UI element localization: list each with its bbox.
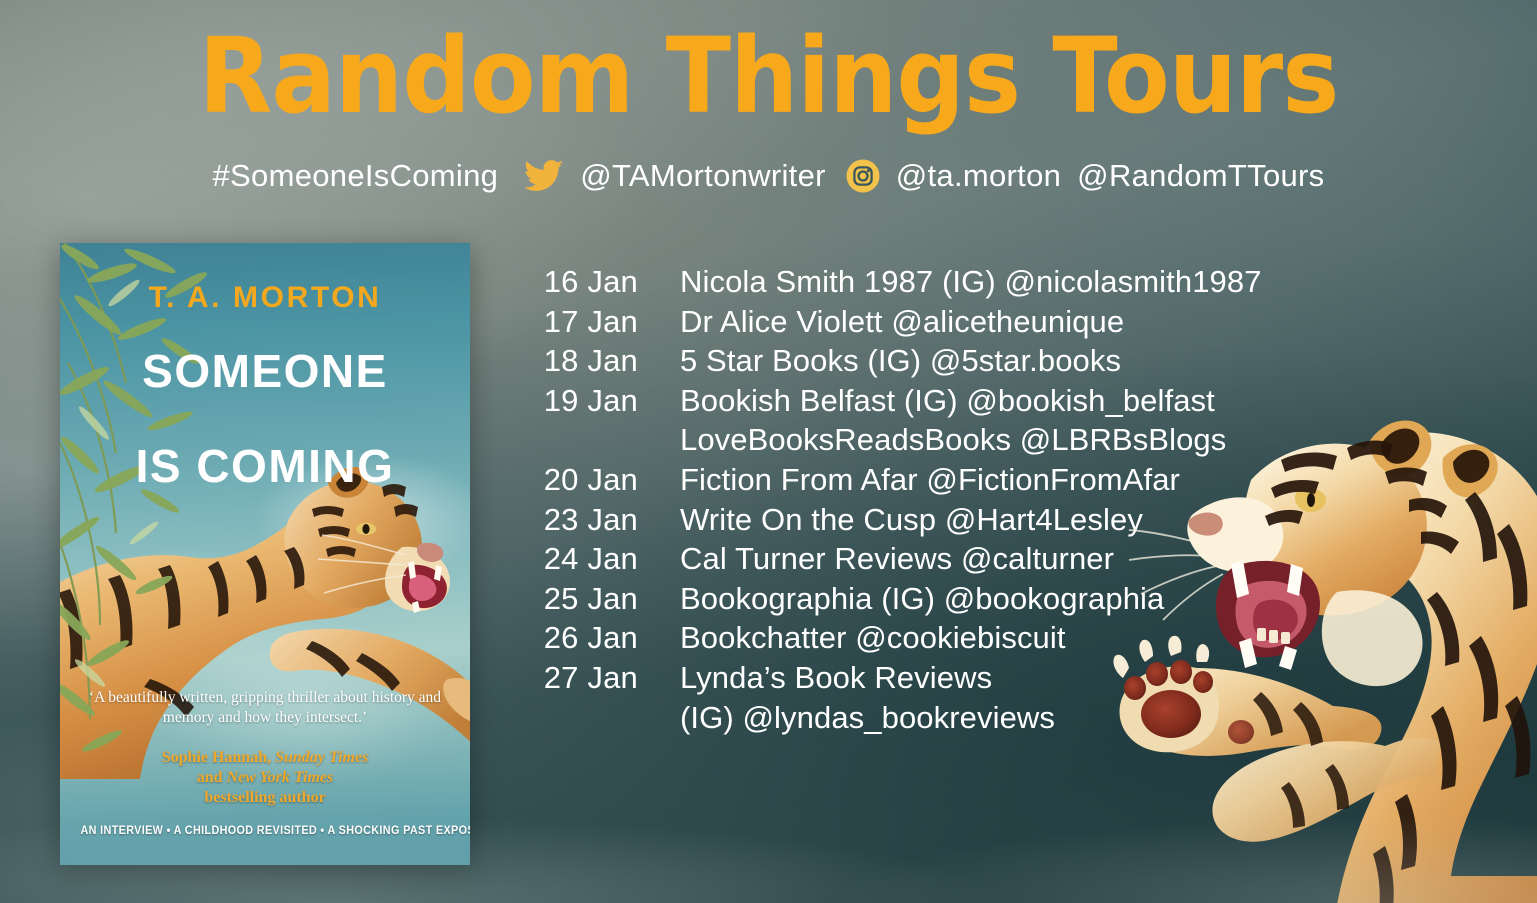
schedule-date: 20 Jan xyxy=(520,460,638,500)
schedule-date: 23 Jan xyxy=(520,500,638,540)
twitter-bird-icon xyxy=(524,159,564,193)
cover-author-name: T. A. MORTON xyxy=(60,281,470,315)
schedule-date: 24 Jan xyxy=(520,539,638,579)
schedule-date: 19 Jan xyxy=(520,381,638,421)
schedule-blog: Bookchatter @cookiebiscuit xyxy=(680,618,1066,658)
cover-review-quote: ‘A beautifully written, gripping thrille… xyxy=(82,688,448,727)
instagram-icon xyxy=(846,159,880,193)
schedule-date: 25 Jan xyxy=(520,579,638,619)
schedule-blog: (IG) @lyndas_bookreviews xyxy=(680,698,1055,738)
schedule-row: 18 Jan5 Star Books (IG) @5star.books xyxy=(520,341,1380,381)
schedule-blog: Nicola Smith 1987 (IG) @nicolasmith1987 xyxy=(680,262,1262,302)
book-tour-poster: Random Things Tours #SomeoneIsComing @TA… xyxy=(0,0,1537,903)
cover-title-line2: IS COMING xyxy=(60,436,470,496)
page-title: Random Things Tours xyxy=(61,24,1475,128)
schedule-blog: Lynda’s Book Reviews xyxy=(680,658,992,698)
cover-title: SOMEONE IS COMING xyxy=(60,341,470,496)
schedule-blog: Write On the Cusp @Hart4Lesley xyxy=(680,500,1143,540)
cover-strapline: AN INTERVIEW • A CHILDHOOD REVISITED • A… xyxy=(81,823,450,837)
attrib-line1-plain: Sophie Hannah, xyxy=(162,749,275,766)
schedule-row: 16 JanNicola Smith 1987 (IG) @nicolasmit… xyxy=(520,262,1380,302)
schedule-row: 17 JanDr Alice Violett @alicetheunique xyxy=(520,302,1380,342)
twitter-handle: @TAMortonwriter xyxy=(580,158,826,194)
schedule-date: 27 Jan xyxy=(520,658,638,698)
book-cover: T. A. MORTON SOMEONE IS COMING ‘A beauti… xyxy=(60,243,470,865)
schedule-blog: Dr Alice Violett @alicetheunique xyxy=(680,302,1124,342)
schedule-date: 18 Jan xyxy=(520,341,638,381)
attrib-line1-italic: Sunday Times xyxy=(275,749,368,766)
schedule-date: 17 Jan xyxy=(520,302,638,342)
hashtag-label: #SomeoneIsComing xyxy=(213,158,499,194)
cover-title-line1: SOMEONE xyxy=(142,345,388,397)
attrib-line2-italic: New York Times xyxy=(227,769,334,786)
leaping-tiger-artwork xyxy=(1085,396,1537,903)
instagram-handle: @ta.morton xyxy=(896,158,1061,194)
tours-handle: @RandomTTours xyxy=(1077,158,1324,194)
schedule-date: 16 Jan xyxy=(520,262,638,302)
attrib-line3: bestselling author xyxy=(204,789,325,806)
schedule-blog: 5 Star Books (IG) @5star.books xyxy=(680,341,1121,381)
attrib-line2-plain: and xyxy=(197,769,227,786)
social-handles-bar: #SomeoneIsComing @TAMortonwriter @ta.mor… xyxy=(0,158,1537,194)
schedule-date: 26 Jan xyxy=(520,618,638,658)
cover-review-attribution: Sophie Hannah, Sunday Times and New York… xyxy=(82,748,448,808)
schedule-blog: Cal Turner Reviews @calturner xyxy=(680,539,1114,579)
